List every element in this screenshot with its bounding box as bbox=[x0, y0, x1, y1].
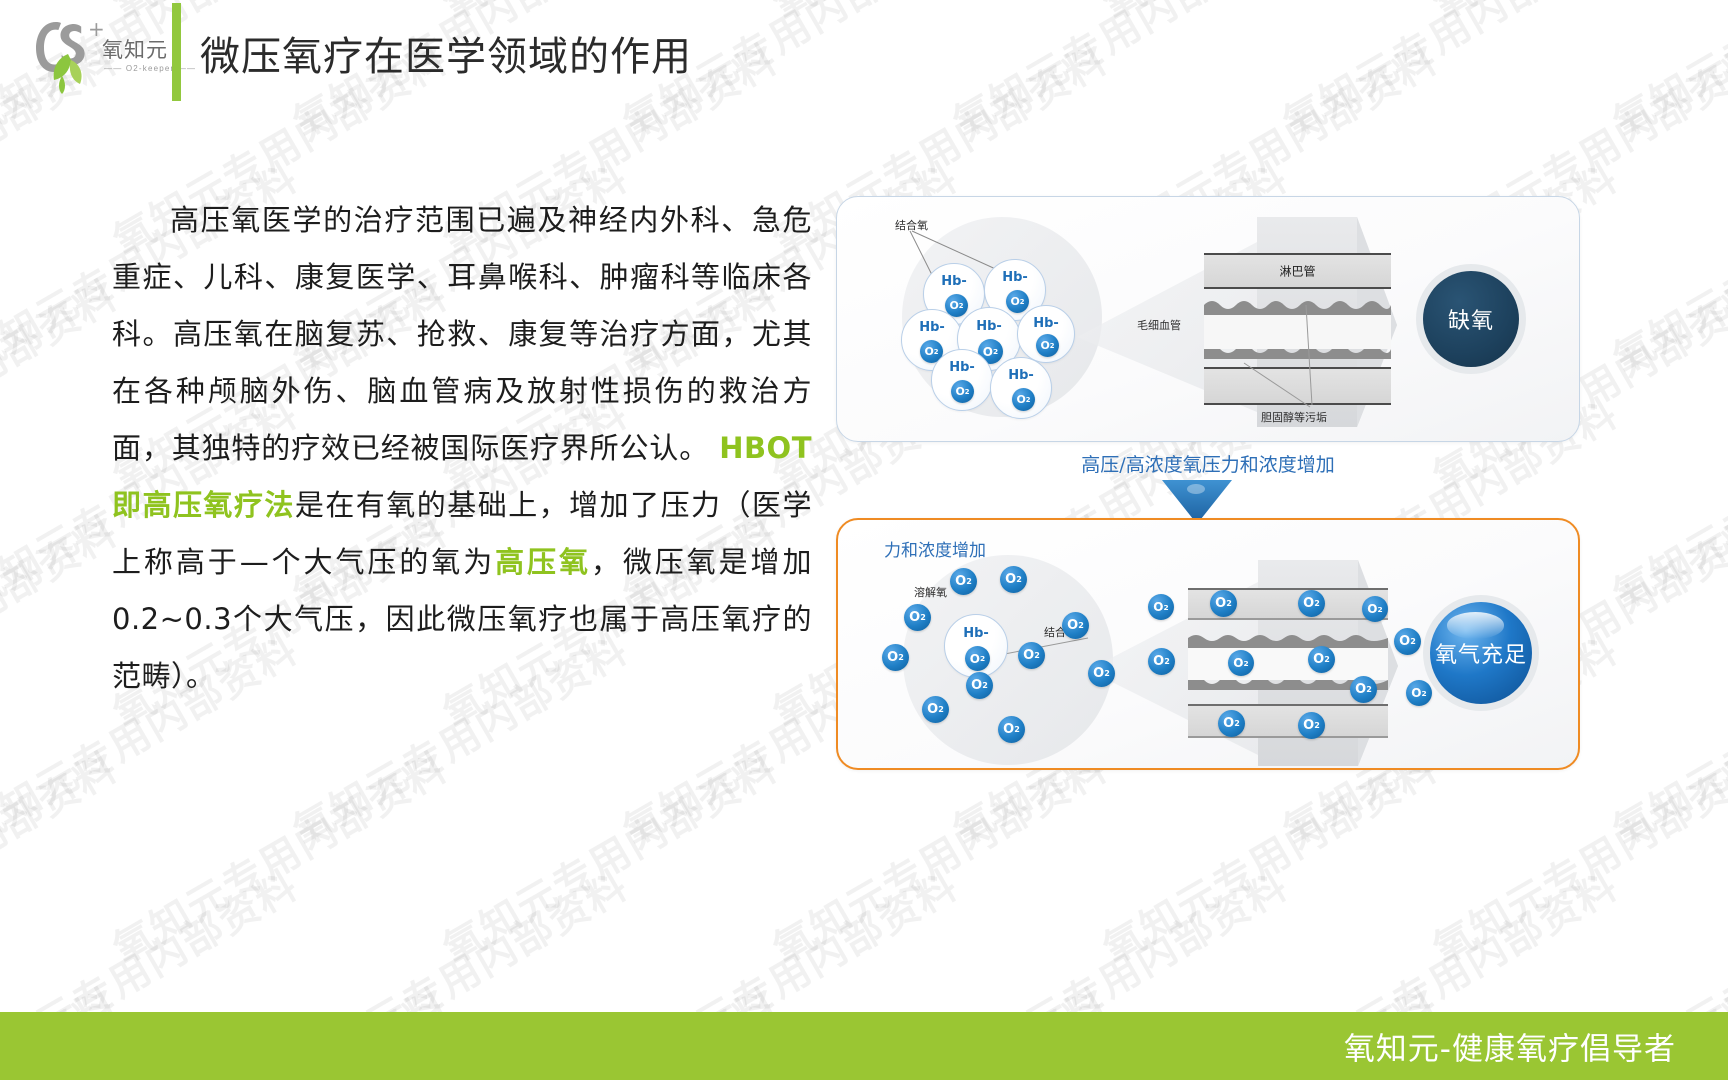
o2-badge: O2 bbox=[1036, 334, 1059, 357]
paragraph-run: 高压氧医学的治疗范围已遍及神经内外科、急危重症、儿科、康复医学、耳鼻喉科、肿瘤科… bbox=[112, 203, 812, 465]
hb-o2-cell: Hb- O2 bbox=[931, 349, 993, 411]
vessel-lymph-label: 淋巴管 bbox=[1204, 263, 1391, 280]
o2-badge: O2 bbox=[965, 646, 990, 671]
watermark-text: 氧知元专用内部资料 bbox=[0, 735, 127, 974]
watermark-text: 氧知元专用内部资料 bbox=[0, 499, 127, 738]
o2-bubble: O2 bbox=[1308, 646, 1335, 673]
leader-line-cholesterol bbox=[1204, 301, 1391, 413]
o2-bubble: O2 bbox=[1406, 680, 1432, 706]
diagram-panel-low-oxygen: 结合氧 Hb- O2 Hb- O2 Hb- O2 Hb- O2 Hb- O2 H… bbox=[836, 196, 1580, 442]
hb-label: Hb- bbox=[932, 360, 992, 375]
hb-label: Hb- bbox=[902, 320, 962, 335]
hb-label: Hb- bbox=[991, 368, 1051, 383]
watermark-text: 氧知元专用内部资料 bbox=[1601, 145, 1728, 384]
o2-badge: O2 bbox=[1006, 290, 1029, 313]
o2-bubble: O2 bbox=[1394, 628, 1421, 655]
o2-bubble: O2 bbox=[922, 696, 949, 723]
logo-o2-icon: + bbox=[30, 14, 108, 96]
hb-o2-cell: Hb- O2 bbox=[944, 614, 1008, 678]
hb-label: Hb- bbox=[958, 319, 1020, 334]
o2-bubble: O2 bbox=[1062, 612, 1089, 639]
label-dissolved-oxygen: 溶解氧 bbox=[914, 584, 947, 600]
hb-label: Hb- bbox=[924, 274, 984, 289]
o2-bubble: O2 bbox=[1298, 590, 1325, 617]
watermark-text: 氧知元专用内部资料 bbox=[101, 735, 457, 974]
brand-logo: + 氧知元 —— O2-keeper —— bbox=[24, 8, 174, 100]
transition-caption: 高压/高浓度氧压力和浓度增加 bbox=[836, 450, 1580, 477]
footer-tagline: 氧知元-健康氧疗倡导者 bbox=[1344, 1024, 1676, 1069]
slide-header: + 氧知元 —— O2-keeper —— 微压氧疗在医学领域的作用 bbox=[0, 0, 1728, 108]
o2-bubble: O2 bbox=[966, 672, 993, 699]
watermark-text: 氧知元专用内部资料 bbox=[1601, 617, 1728, 856]
diagram-panel-rich-oxygen: 力和浓度增加 溶解氧 结合氧 Hb- O2 O2 O2 O2 O2 O2 O2 … bbox=[836, 518, 1580, 770]
result-badge-hypoxia: 缺氧 bbox=[1423, 271, 1519, 367]
highlighted-term: 高压氧 bbox=[495, 545, 591, 579]
o2-bubble: O2 bbox=[882, 644, 909, 671]
o2-badge: O2 bbox=[1012, 388, 1035, 411]
watermark-text: 氧知元专用内部资料 bbox=[1601, 381, 1728, 620]
hb-label: Hb- bbox=[985, 270, 1045, 285]
o2-bubble: O2 bbox=[950, 568, 977, 595]
o2-badge: O2 bbox=[951, 380, 974, 403]
watermark-text: 氧知元专用内部资料 bbox=[761, 735, 1117, 974]
o2-bubble: O2 bbox=[1218, 710, 1245, 737]
o2-bubble: O2 bbox=[1350, 676, 1377, 703]
title-accent-bar bbox=[172, 3, 181, 101]
logo-subtitle: —— O2-keeper —— bbox=[104, 64, 196, 73]
o2-bubble: O2 bbox=[998, 716, 1025, 743]
watermark-text: 氧知元专用内部资料 bbox=[1091, 735, 1447, 974]
result-badge-hypoxia-label: 缺氧 bbox=[1448, 303, 1494, 335]
diagram-top-canvas: 结合氧 Hb- O2 Hb- O2 Hb- O2 Hb- O2 Hb- O2 H… bbox=[837, 197, 1579, 441]
hb-o2-cell: Hb- O2 bbox=[1017, 305, 1075, 363]
body-paragraph: 高压氧医学的治疗范围已遍及神经内外科、急危重症、儿科、康复医学、耳鼻喉科、肿瘤科… bbox=[112, 192, 812, 705]
hb-label: Hb- bbox=[1018, 316, 1074, 331]
o2-bubble: O2 bbox=[1000, 566, 1027, 593]
o2-bubble: O2 bbox=[1088, 660, 1115, 687]
diagram-bottom-canvas: 力和浓度增加 溶解氧 结合氧 Hb- O2 O2 O2 O2 O2 O2 O2 … bbox=[838, 520, 1578, 768]
vessel-lymph-band: 淋巴管 bbox=[1204, 253, 1391, 289]
o2-bubble: O2 bbox=[1148, 648, 1175, 675]
o2-bubble: O2 bbox=[1148, 594, 1174, 620]
panel-title-bottom: 力和浓度增加 bbox=[884, 536, 986, 561]
o2-bubble: O2 bbox=[1018, 642, 1045, 669]
slide-footer: 氧知元-健康氧疗倡导者 bbox=[0, 1012, 1728, 1080]
logo-chinese-name: 氧知元 bbox=[102, 34, 168, 64]
hb-o2-cell: Hb- O2 bbox=[990, 357, 1052, 419]
vessel-capillary-label: 毛细血管 bbox=[1137, 317, 1181, 333]
watermark-text: 氧知元专用内部资料 bbox=[0, 263, 127, 502]
page-title: 微压氧疗在医学领域的作用 bbox=[200, 24, 692, 82]
o2-bubble: O2 bbox=[904, 604, 931, 631]
o2-bubble: O2 bbox=[1228, 650, 1254, 676]
o2-bubble: O2 bbox=[1298, 712, 1325, 739]
result-badge-oxygen-rich-label: 氧气充足 bbox=[1435, 637, 1527, 669]
o2-bubble: O2 bbox=[1362, 596, 1388, 622]
watermark-text: 氧知元专用内部资料 bbox=[431, 735, 787, 974]
o2-bubble: O2 bbox=[1210, 590, 1237, 617]
result-badge-oxygen-rich: 氧气充足 bbox=[1430, 602, 1532, 704]
hb-label: Hb- bbox=[945, 626, 1007, 641]
watermark-text: 氧知元专用内部资料 bbox=[1421, 735, 1728, 974]
